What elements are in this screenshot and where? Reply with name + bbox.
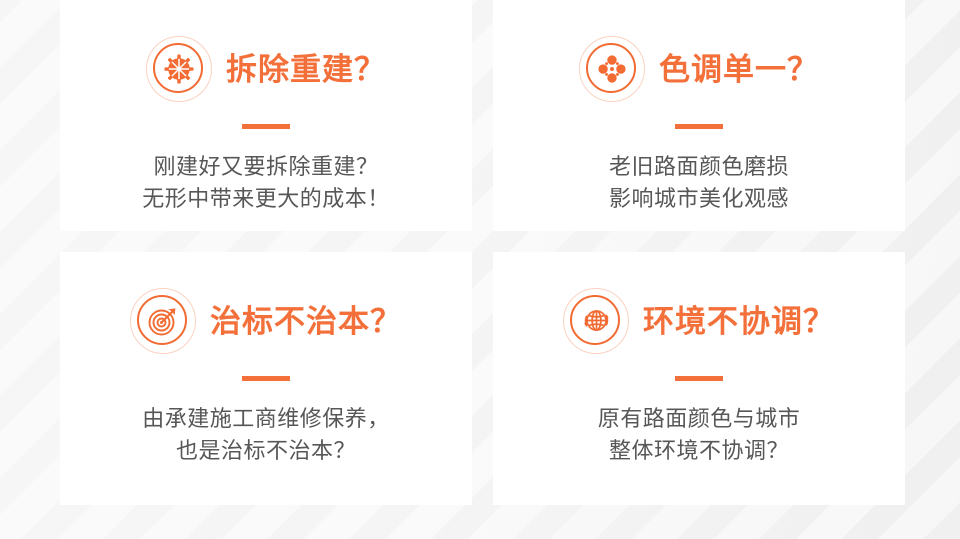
card-3-divider [242,376,290,381]
feature-card-4[interactable]: 环境不协调？ 原有路面颜色与城市 整体环境不协调？ [493,252,905,505]
target-arrow-icon [130,288,196,354]
feature-card-3[interactable]: 治标不治本？ 由承建施工商维修保养， 也是治标不治本？ [60,252,472,505]
four-dots-icon [579,36,645,102]
card-1-body-line-1: 刚建好又要拆除重建？ [142,151,390,183]
card-3-body-line-2: 也是治标不治本？ [142,435,390,467]
card-1-body-line-2: 无形中带来更大的成本！ [142,183,390,215]
card-3-body: 由承建施工商维修保养， 也是治标不治本？ [142,403,390,467]
gear-icon [146,36,212,102]
card-2-title: 色调单一？ [659,54,819,85]
feature-card-grid: 拆除重建？ 刚建好又要拆除重建？ 无形中带来更大的成本！ [60,0,905,505]
card-2-divider [675,124,723,129]
card-1-title: 拆除重建？ [226,54,386,85]
page-root: 拆除重建？ 刚建好又要拆除重建？ 无形中带来更大的成本！ [0,0,960,539]
card-2-body-line-1: 老旧路面颜色磨损 [609,151,789,183]
card-3-title: 治标不治本？ [210,306,402,337]
card-3-body-line-1: 由承建施工商维修保养， [142,403,390,435]
feature-card-1[interactable]: 拆除重建？ 刚建好又要拆除重建？ 无形中带来更大的成本！ [60,0,472,231]
card-3-header: 治标不治本？ [76,288,456,354]
card-4-body-line-2: 整体环境不协调？ [598,435,801,467]
feature-card-2[interactable]: 色调单一？ 老旧路面颜色磨损 影响城市美化观感 [493,0,905,231]
card-1-header: 拆除重建？ [76,36,456,102]
card-4-header: 环境不协调？ [509,288,889,354]
card-4-divider [675,376,723,381]
card-4-body-line-1: 原有路面颜色与城市 [598,403,801,435]
card-4-body: 原有路面颜色与城市 整体环境不协调？ [598,403,801,467]
card-1-body: 刚建好又要拆除重建？ 无形中带来更大的成本！ [142,151,390,215]
card-2-body: 老旧路面颜色磨损 影响城市美化观感 [609,151,789,215]
card-2-body-line-2: 影响城市美化观感 [609,183,789,215]
card-4-title: 环境不协调？ [643,306,835,337]
card-2-header: 色调单一？ [509,36,889,102]
card-1-divider [242,124,290,129]
globe-icon [563,288,629,354]
